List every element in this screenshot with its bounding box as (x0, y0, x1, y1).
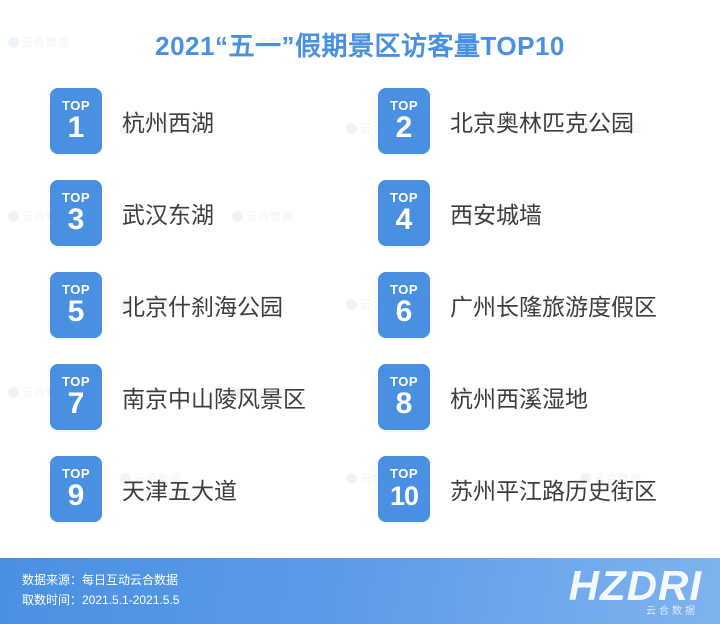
rank-badge-prefix: TOP (390, 467, 418, 481)
footer-source-line: 数据来源：每日互动云合数据 (22, 570, 179, 590)
page-title: 2021“五一”假期景区访客量TOP10 (0, 26, 720, 63)
brand-logo-subtitle: 云合数据 (646, 602, 698, 617)
rank-badge-number: 10 (390, 480, 418, 512)
list-item: TOP 2 北京奥林匹克公园 (378, 86, 708, 156)
rank-badge: TOP 2 (378, 88, 430, 154)
rank-badge: TOP 3 (50, 180, 102, 246)
rank-badge-number: 1 (68, 112, 85, 144)
list-item: TOP 5 北京什刹海公园 (50, 270, 370, 340)
rank-badge: TOP 5 (50, 272, 102, 338)
rank-badge-number: 8 (396, 388, 413, 420)
list-item-label: 杭州西溪湿地 (450, 380, 588, 414)
list-item-label: 武汉东湖 (122, 196, 214, 230)
rank-badge-number: 5 (68, 296, 85, 328)
page-title-text: 2021“五一”假期景区访客量TOP10 (155, 31, 565, 61)
rank-badge-number: 7 (68, 388, 85, 420)
list-item: TOP 7 南京中山陵风景区 (50, 362, 370, 432)
rank-badge: TOP 10 (378, 456, 430, 522)
rank-badge: TOP 9 (50, 456, 102, 522)
list-item-label: 北京奥林匹克公园 (450, 104, 634, 138)
list-item: TOP 10 苏州平江路历史街区 (378, 454, 708, 524)
rank-badge-number: 4 (396, 204, 413, 236)
rank-badge-number: 3 (68, 204, 85, 236)
list-item-label: 杭州西湖 (122, 104, 214, 138)
list-item-label: 西安城墙 (450, 196, 542, 230)
list-item: TOP 4 西安城墙 (378, 178, 708, 248)
ranking-list: TOP 1 杭州西湖 TOP 2 北京奥林匹克公园 TOP 3 武汉东湖 TOP… (0, 86, 720, 556)
footer-date-line: 取数时间：2021.5.1-2021.5.5 (22, 590, 179, 610)
list-item: TOP 8 杭州西溪湿地 (378, 362, 708, 432)
rank-badge: TOP 7 (50, 364, 102, 430)
rank-badge: TOP 4 (378, 180, 430, 246)
list-item-label: 苏州平江路历史街区 (450, 472, 657, 506)
footer-bar: 数据来源：每日互动云合数据 取数时间：2021.5.1-2021.5.5 HZD… (0, 558, 720, 624)
infographic-page: 云合数据 云合数据 云合数据 云合数据 云合数据 云合数据 云合数据 云合数据 … (0, 0, 720, 624)
rank-badge: TOP 1 (50, 88, 102, 154)
rank-badge: TOP 8 (378, 364, 430, 430)
list-item: TOP 3 武汉东湖 (50, 178, 370, 248)
list-item: TOP 6 广州长隆旅游度假区 (378, 270, 708, 340)
list-item: TOP 9 天津五大道 (50, 454, 370, 524)
rank-badge-number: 6 (396, 296, 413, 328)
rank-badge: TOP 6 (378, 272, 430, 338)
list-item-label: 广州长隆旅游度假区 (450, 288, 657, 322)
footer-source: 数据来源：每日互动云合数据 取数时间：2021.5.1-2021.5.5 (22, 570, 179, 610)
list-item-label: 南京中山陵风景区 (122, 380, 306, 414)
list-item-label: 天津五大道 (122, 472, 237, 506)
rank-badge-number: 9 (68, 480, 85, 512)
list-item-label: 北京什刹海公园 (122, 288, 283, 322)
list-item: TOP 1 杭州西湖 (50, 86, 370, 156)
rank-badge-number: 2 (396, 112, 413, 144)
